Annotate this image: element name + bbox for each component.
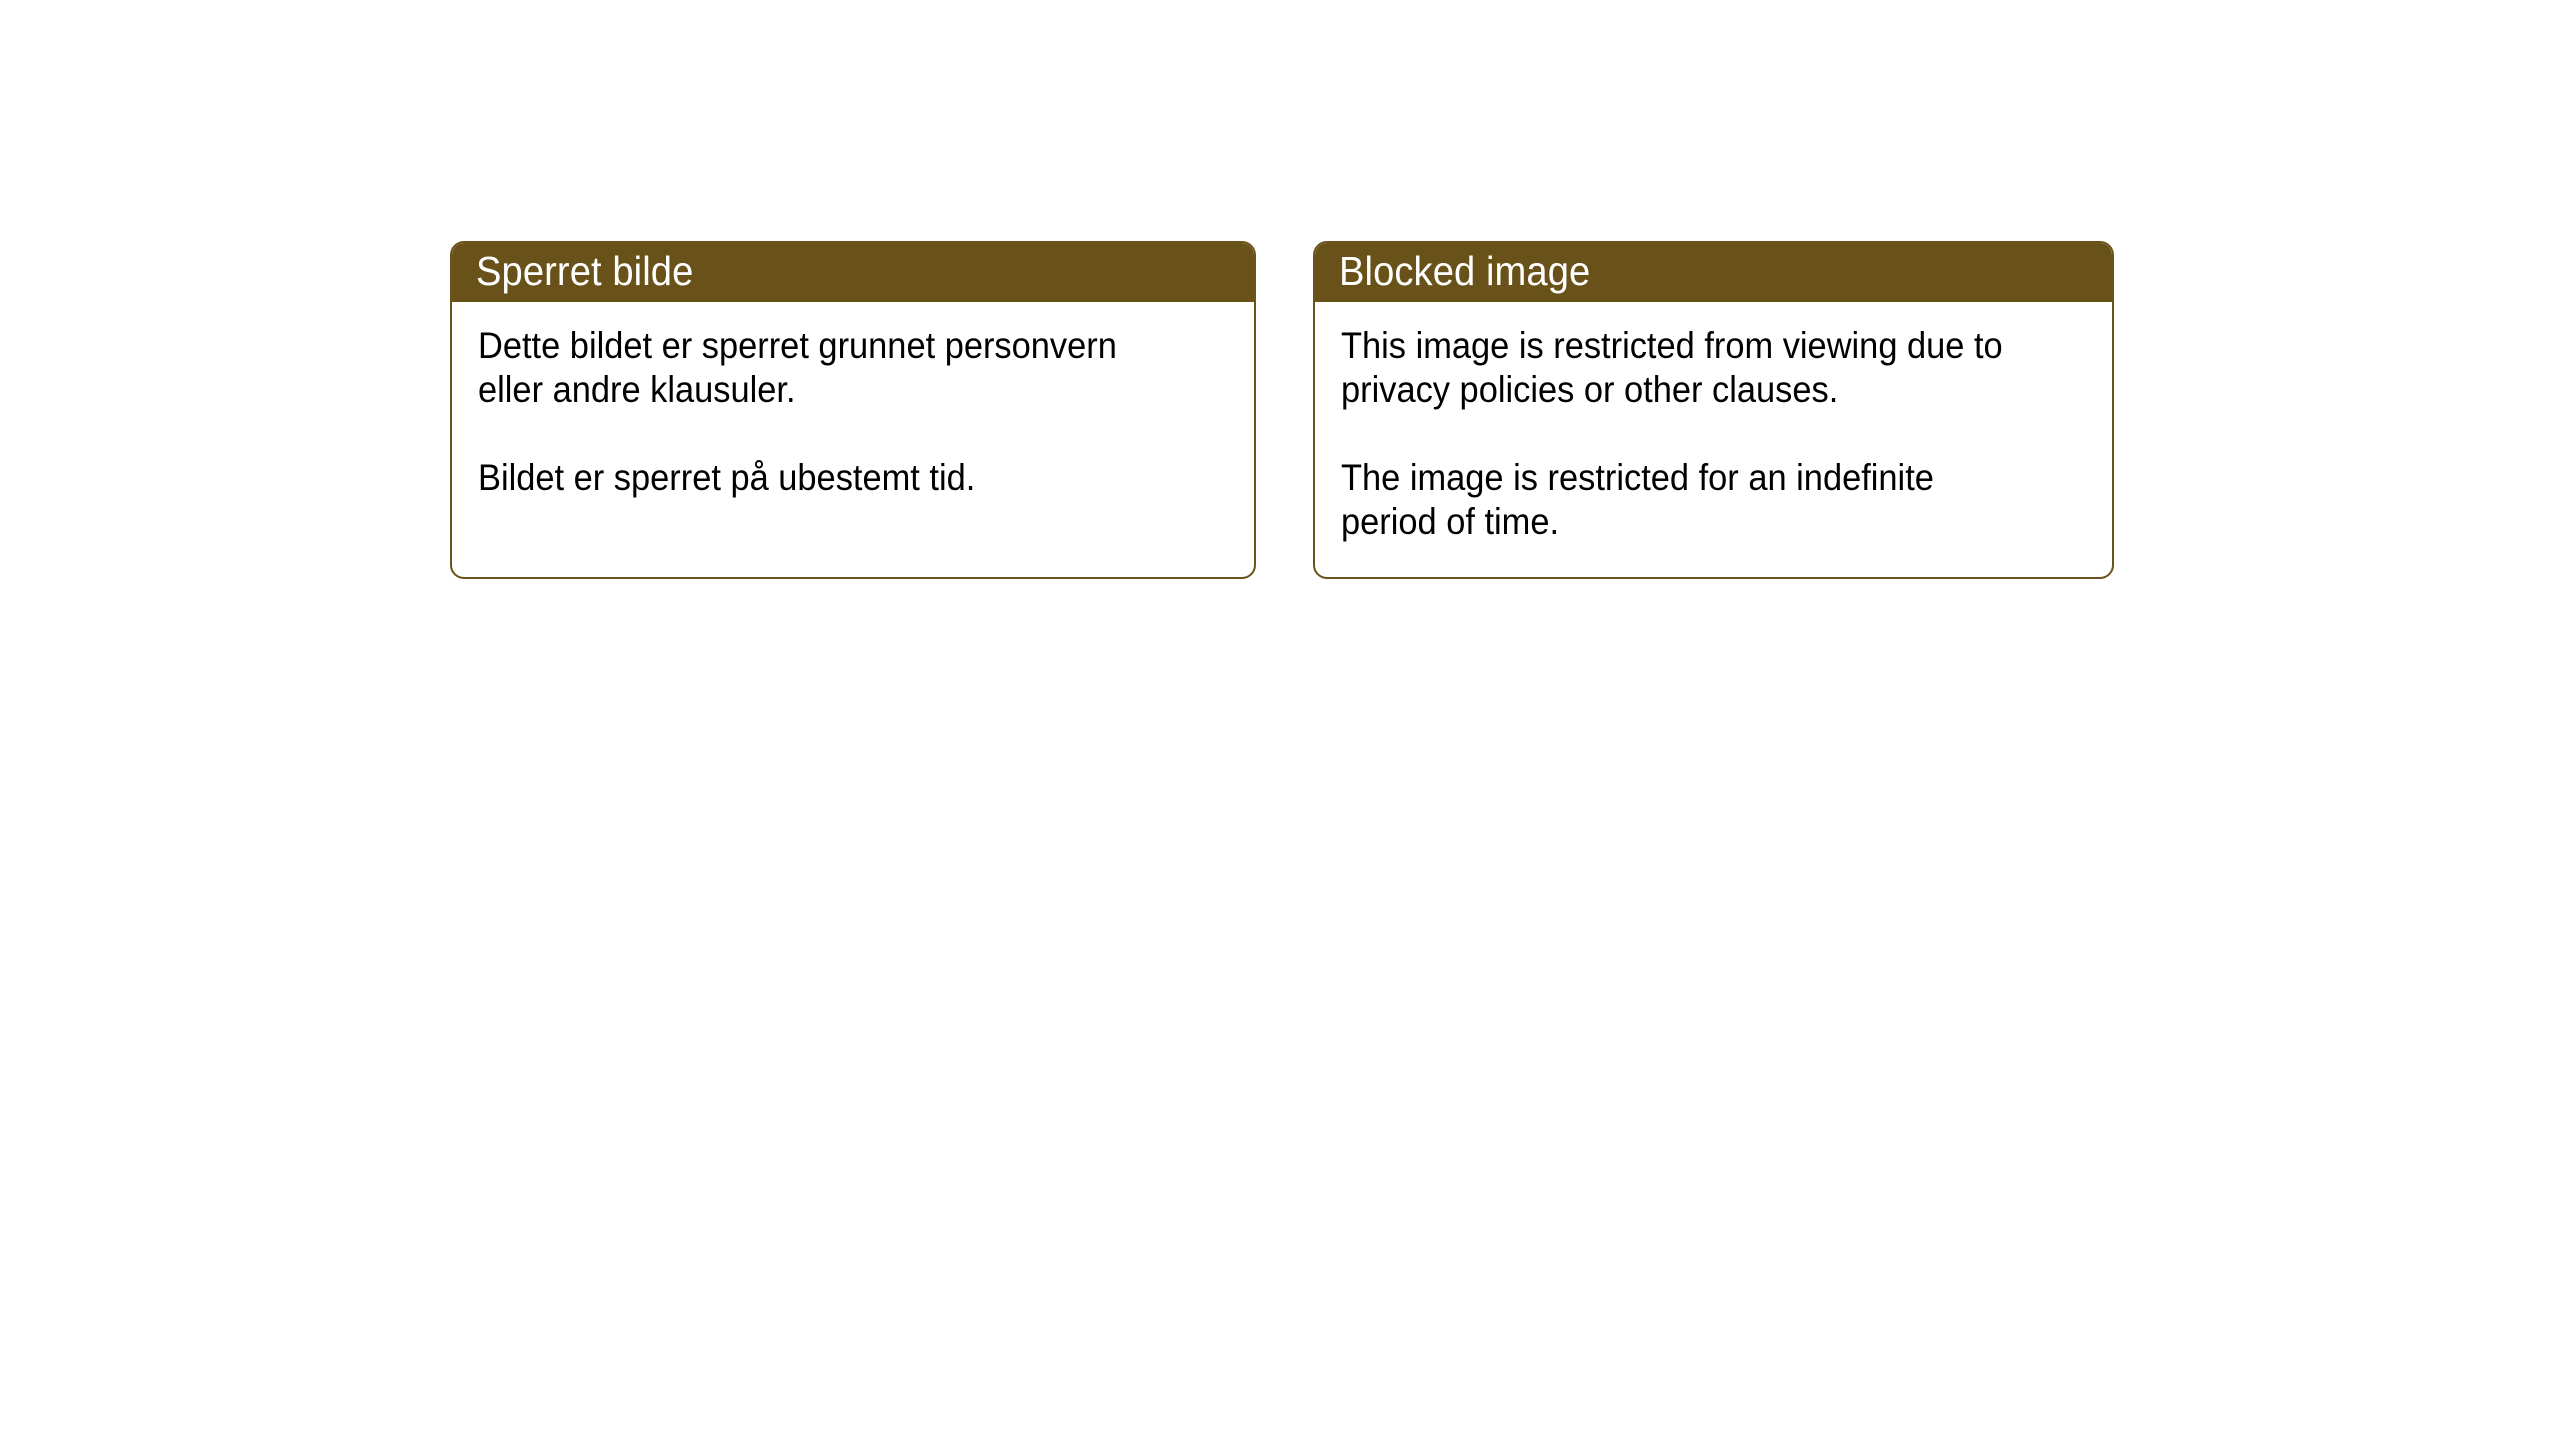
card-paragraph-secondary-en: The image is restricted for an indefinit… xyxy=(1341,456,2034,544)
card-title-no: Sperret bilde xyxy=(476,251,693,292)
card-paragraph-primary-no: Dette bildet er sperret grunnet personve… xyxy=(478,324,1176,412)
card-paragraph-primary-en: This image is restricted from viewing du… xyxy=(1341,324,2034,412)
card-body-en: This image is restricted from viewing du… xyxy=(1315,302,2112,544)
card-body-no: Dette bildet er sperret grunnet personve… xyxy=(452,302,1254,500)
card-paragraph-secondary-no: Bildet er sperret på ubestemt tid. xyxy=(478,456,1176,500)
card-title-en: Blocked image xyxy=(1339,251,1590,292)
paragraph-spacer-en xyxy=(1341,412,2086,456)
card-header-en: Blocked image xyxy=(1315,243,2112,302)
paragraph-spacer-no xyxy=(478,412,1228,456)
card-header-no: Sperret bilde xyxy=(452,243,1254,302)
page-canvas: Sperret bilde Dette bildet er sperret gr… xyxy=(0,0,2560,1440)
blocked-image-notice-card-en: Blocked image This image is restricted f… xyxy=(1313,241,2114,579)
blocked-image-notice-card-no: Sperret bilde Dette bildet er sperret gr… xyxy=(450,241,1256,579)
